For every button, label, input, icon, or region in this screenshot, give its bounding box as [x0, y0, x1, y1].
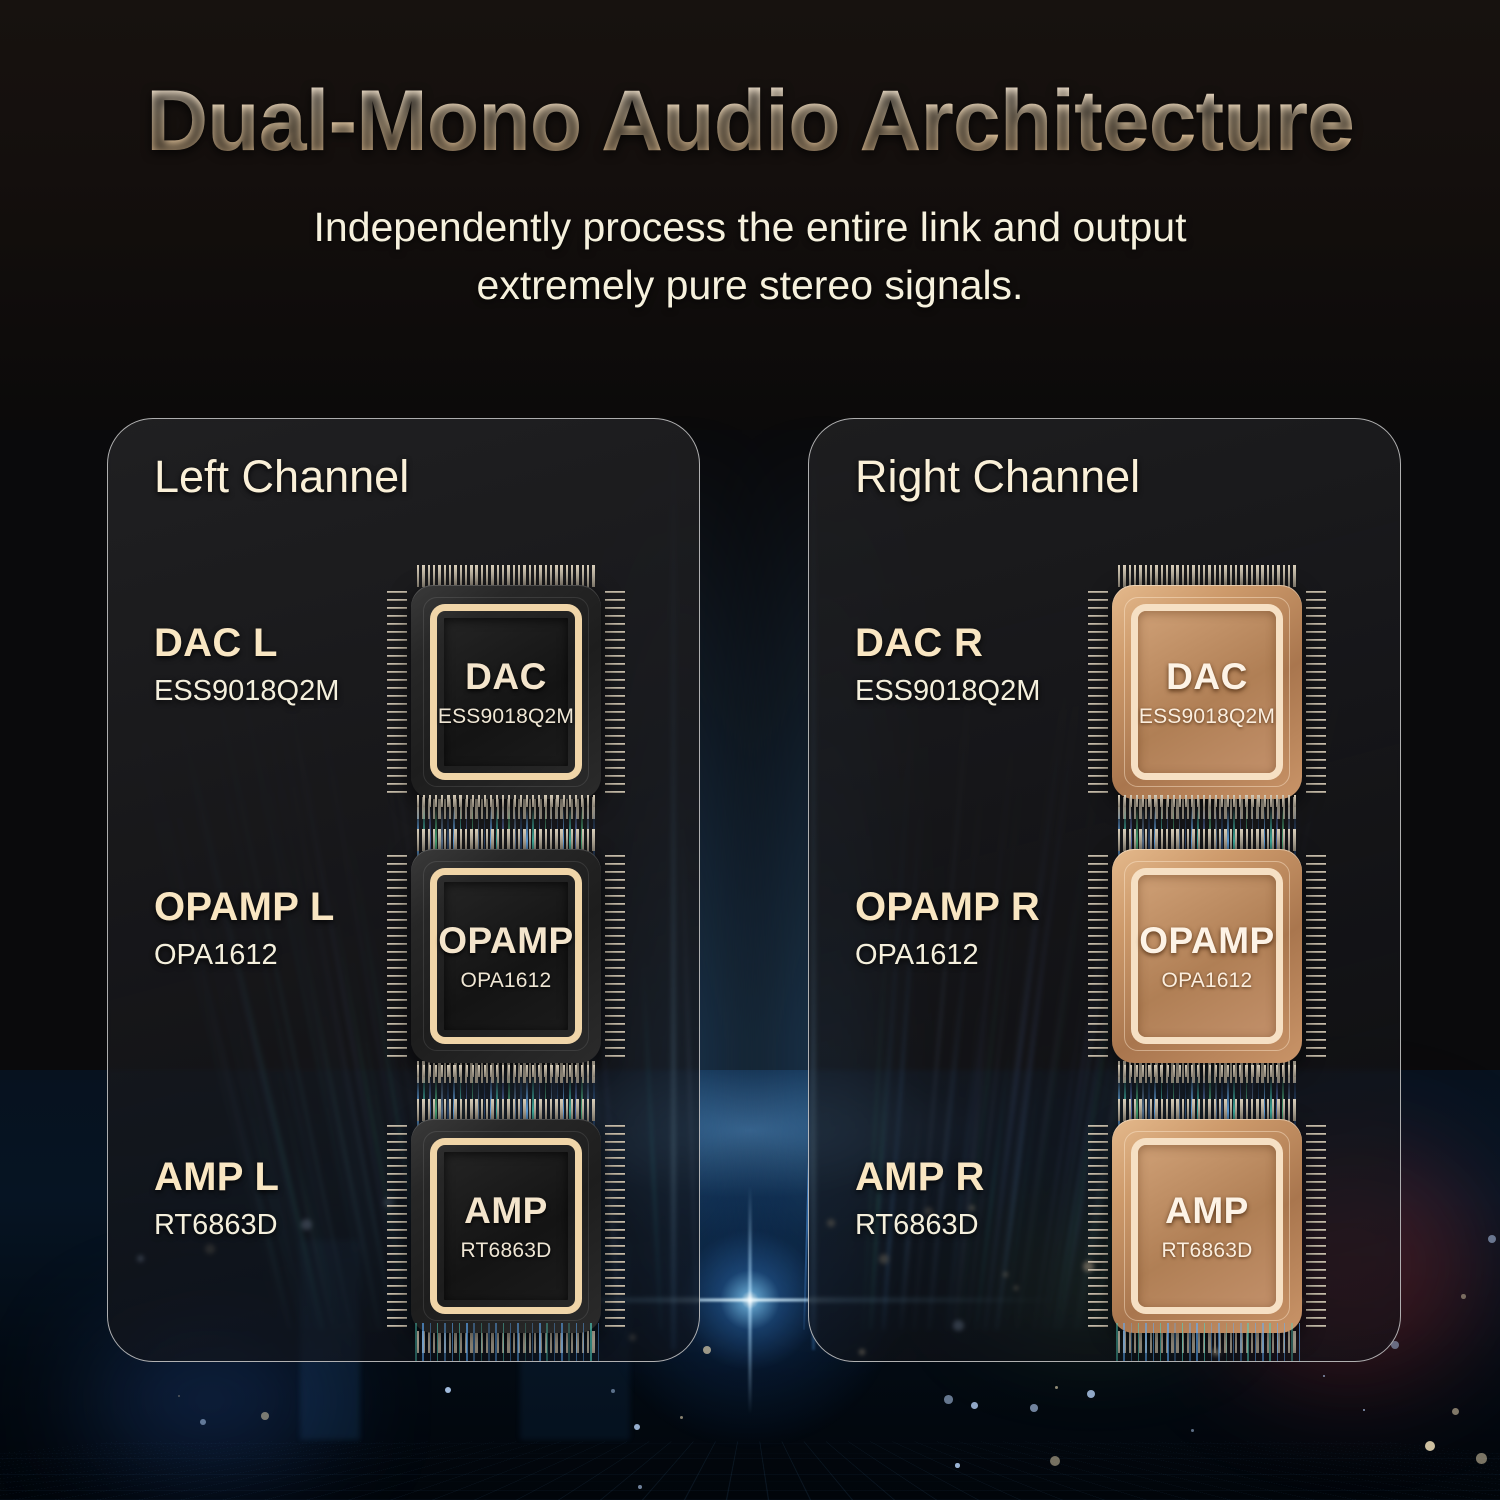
connector-pins-top	[417, 795, 595, 807]
chip-main-label: OPAMP	[438, 922, 573, 959]
panel-right-channel: Right Channel DAC R ESS9018Q2M DAC ESS90…	[808, 418, 1401, 1362]
chip-pins-top	[1118, 829, 1296, 851]
chip-pins-left	[1088, 855, 1108, 1057]
stage-label: AMP L RT6863D	[154, 1155, 279, 1242]
chip-main-label: DAC	[465, 658, 547, 695]
connector-pins-top	[1118, 795, 1296, 807]
page-subtitle: Independently process the entire link an…	[0, 198, 1500, 314]
chip-pins-right	[605, 591, 625, 793]
stage-dac-right: DAC R ESS9018Q2M DAC ESS9018Q2M	[809, 587, 1400, 797]
subtitle-line-1: Independently process the entire link an…	[314, 204, 1187, 250]
chip-body: DAC ESS9018Q2M	[411, 585, 601, 799]
chip-body: OPAMP OPA1612	[1112, 849, 1302, 1063]
stage-amp-left: AMP L RT6863D AMP RT6863D	[108, 1121, 699, 1331]
chip-dac: DAC ESS9018Q2M	[1098, 565, 1316, 819]
chip-face: OPAMP OPA1612	[437, 875, 575, 1037]
chip-pins-right	[605, 1125, 625, 1327]
chip-amp: AMP RT6863D	[1098, 1099, 1316, 1353]
chip-amp: AMP RT6863D	[397, 1099, 615, 1353]
panel-left-title: Left Channel	[154, 451, 409, 503]
chip-pins-top	[417, 1099, 595, 1121]
stage-opamp-left: OPAMP L OPA1612 OPAMP OPA1612	[108, 851, 699, 1061]
panel-left-channel: Left Channel DAC L ESS9018Q2M DAC ESS901…	[107, 418, 700, 1362]
chip-pins-left	[387, 591, 407, 793]
chip-face: OPAMP OPA1612	[1138, 875, 1276, 1037]
connector-pins-top	[1118, 1065, 1296, 1077]
stage-label: DAC L ESS9018Q2M	[154, 621, 339, 708]
chip-pins-left	[1088, 591, 1108, 793]
stage-part-number: ESS9018Q2M	[154, 675, 339, 708]
chip-sub-label: RT6863D	[1162, 1240, 1253, 1261]
stage-name: AMP R	[855, 1155, 985, 1200]
stage-name: DAC L	[154, 621, 339, 666]
connector-pins-top	[417, 1065, 595, 1077]
chip-face: AMP RT6863D	[1138, 1145, 1276, 1307]
chip-main-label: AMP	[464, 1192, 548, 1229]
stage-dac-left: DAC L ESS9018Q2M DAC ESS9018Q2M	[108, 587, 699, 797]
stage-name: AMP L	[154, 1155, 279, 1200]
chip-pins-right	[1306, 1125, 1326, 1327]
stage-part-number: RT6863D	[154, 1209, 279, 1242]
stage-label: OPAMP R OPA1612	[855, 885, 1040, 972]
header: Dual-Mono Audio Architecture Independent…	[0, 0, 1500, 314]
chip-pins-left	[387, 1125, 407, 1327]
chip-body: DAC ESS9018Q2M	[1112, 585, 1302, 799]
chip-main-label: AMP	[1165, 1192, 1249, 1229]
chip-sub-label: ESS9018Q2M	[1139, 706, 1275, 727]
subtitle-line-2: extremely pure stereo signals.	[477, 262, 1024, 308]
chip-body: AMP RT6863D	[1112, 1119, 1302, 1333]
chip-pins-top	[417, 829, 595, 851]
page-title: Dual-Mono Audio Architecture	[0, 78, 1500, 164]
chip-face: AMP RT6863D	[437, 1145, 575, 1307]
stage-name: OPAMP R	[855, 885, 1040, 930]
chip-sub-label: ESS9018Q2M	[438, 706, 574, 727]
panel-right-title: Right Channel	[855, 451, 1140, 503]
chip-body: OPAMP OPA1612	[411, 849, 601, 1063]
chip-pins-right	[605, 855, 625, 1057]
stage-part-number: ESS9018Q2M	[855, 675, 1040, 708]
chip-pins-top	[1118, 565, 1296, 587]
stage-name: DAC R	[855, 621, 1040, 666]
chip-face: DAC ESS9018Q2M	[437, 611, 575, 773]
chip-opamp: OPAMP OPA1612	[397, 829, 615, 1083]
chip-dac: DAC ESS9018Q2M	[397, 565, 615, 819]
stage-part-number: RT6863D	[855, 1209, 985, 1242]
chip-main-label: DAC	[1166, 658, 1248, 695]
chip-sub-label: RT6863D	[461, 1240, 552, 1261]
chip-pins-top	[1118, 1099, 1296, 1121]
stage-label: OPAMP L OPA1612	[154, 885, 335, 972]
stage-label: DAC R ESS9018Q2M	[855, 621, 1040, 708]
chip-body: AMP RT6863D	[411, 1119, 601, 1333]
chip-face: DAC ESS9018Q2M	[1138, 611, 1276, 773]
stage-opamp-right: OPAMP R OPA1612 OPAMP OPA1612	[809, 851, 1400, 1061]
stage-label: AMP R RT6863D	[855, 1155, 985, 1242]
chip-sub-label: OPA1612	[1162, 970, 1253, 991]
chip-sub-label: OPA1612	[461, 970, 552, 991]
stage-part-number: OPA1612	[855, 939, 1040, 972]
chip-main-label: OPAMP	[1139, 922, 1274, 959]
chip-pins-top	[417, 565, 595, 587]
stage-name: OPAMP L	[154, 885, 335, 930]
stage-part-number: OPA1612	[154, 939, 335, 972]
stage-amp-right: AMP R RT6863D AMP RT6863D	[809, 1121, 1400, 1331]
chip-pins-left	[387, 855, 407, 1057]
chip-opamp: OPAMP OPA1612	[1098, 829, 1316, 1083]
chip-pins-right	[1306, 591, 1326, 793]
chip-pins-right	[1306, 855, 1326, 1057]
chip-pins-left	[1088, 1125, 1108, 1327]
